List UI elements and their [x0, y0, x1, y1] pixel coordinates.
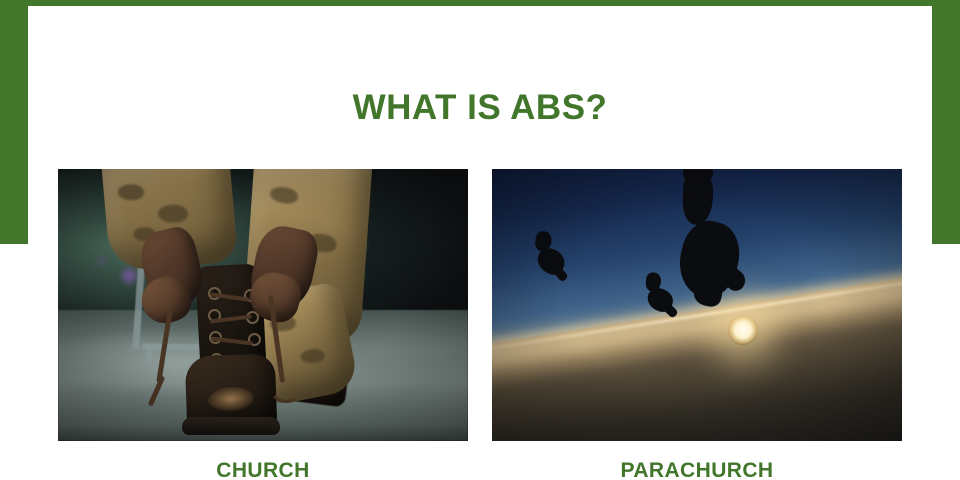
caption-parachurch: PARACHURCH	[492, 459, 902, 480]
camo-blotch	[299, 347, 325, 365]
camo-blotch	[269, 186, 298, 204]
page-title: WHAT IS ABS?	[0, 88, 960, 128]
camo-blotch	[117, 183, 144, 201]
stool-leg	[146, 345, 152, 367]
top-accent-bar	[0, 0, 960, 6]
bokeh-light	[122, 269, 136, 283]
church-photo	[58, 169, 468, 441]
slide: WHAT IS ABS?	[0, 0, 960, 480]
boot-sole	[182, 417, 280, 435]
parachurch-photo	[492, 169, 902, 441]
caption-church: CHURCH	[58, 459, 468, 480]
bokeh-light	[98, 257, 106, 265]
camo-blotch	[157, 203, 188, 224]
panel-parachurch: PARACHURCH	[492, 169, 902, 480]
panel-church: CHURCH	[58, 169, 468, 480]
